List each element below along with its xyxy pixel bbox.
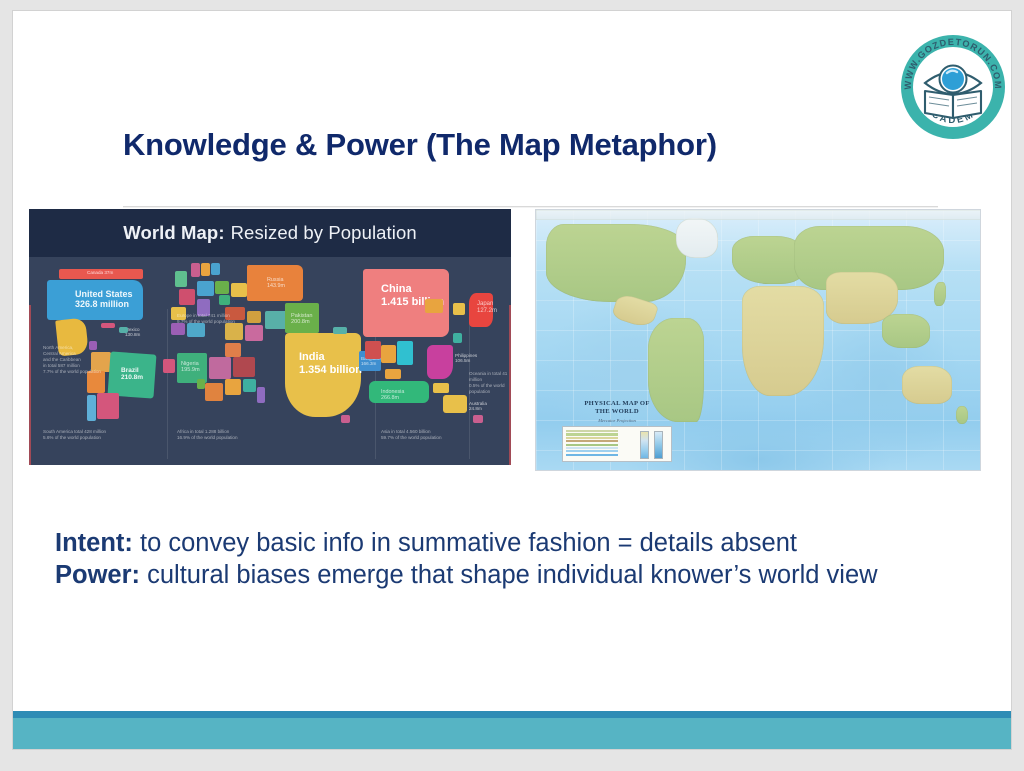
carto-country-dr-congo xyxy=(209,357,231,379)
academy-logo: WWW.GOZDETORUN.COM ACADEMY xyxy=(895,29,1011,145)
carto-note-oceania: Oceania in total 41 million 0.5% of the … xyxy=(469,371,511,395)
carto-note-europe: Europe in total 741 million 9.7% of the … xyxy=(177,313,251,325)
carto-label-australia: Australia 24.8m xyxy=(469,401,487,412)
carto-country-haiti xyxy=(119,327,128,333)
map-caption: PHYSICAL MAP OF THE WORLD Mercator Proje… xyxy=(552,400,682,424)
carto-country-new-zealand xyxy=(473,415,483,423)
carto-country-south-korea xyxy=(453,303,465,315)
body-line-power: Power: cultural biases emerge that shape… xyxy=(55,560,995,592)
carto-country-algeria xyxy=(187,323,205,337)
carto-country-malaysia xyxy=(385,369,401,379)
carto-country-mongolia xyxy=(425,299,443,313)
carto-country-papua-new-guinea xyxy=(433,383,449,393)
map-caption-line1: PHYSICAL MAP OF xyxy=(584,400,649,407)
cartogram-accent-left xyxy=(29,305,31,465)
carto-label-philippines: Philippines 106.5m xyxy=(455,353,477,364)
footer-band xyxy=(13,718,1011,749)
landmass-japan xyxy=(934,282,946,306)
carto-country-kenya xyxy=(243,379,256,392)
carto-country-sweden xyxy=(201,263,210,276)
landmass-australia xyxy=(902,366,952,404)
carto-country-finland xyxy=(211,263,220,275)
physical-world-map-image: PHYSICAL MAP OF THE WORLD Mercator Proje… xyxy=(535,209,981,471)
carto-note-asia: Asia in total 4.560 billion 59.7% of the… xyxy=(381,429,477,441)
carto-country-cuba xyxy=(101,323,115,328)
carto-country-sudan xyxy=(225,343,241,357)
carto-country-ethiopia xyxy=(233,357,255,377)
logo-icon: WWW.GOZDETORUN.COM ACADEMY xyxy=(895,29,1011,145)
map-legend-rows xyxy=(566,430,618,457)
carto-country-sri-lanka xyxy=(341,415,350,423)
carto-country-indonesia xyxy=(369,381,429,403)
title-divider xyxy=(123,206,938,208)
carto-country-ukraine xyxy=(231,283,247,297)
carto-country-ghana xyxy=(163,359,175,373)
carto-country-egypt xyxy=(225,323,243,340)
carto-country-united-kingdom xyxy=(175,271,187,287)
intent-text: to convey basic info in summative fashio… xyxy=(133,529,797,557)
cartogram-divider xyxy=(167,309,168,459)
intent-label: Intent: xyxy=(55,529,133,557)
carto-country-chile xyxy=(87,395,96,421)
carto-country-philippines xyxy=(427,345,453,379)
carto-country-argentina xyxy=(97,393,119,419)
body-line-intent: Intent: to convey basic info in summativ… xyxy=(55,528,995,560)
carto-country-norway xyxy=(191,263,200,277)
carto-country-nepal xyxy=(333,327,347,334)
carto-country-myanmar xyxy=(365,341,381,359)
map-legend-elevation-scale xyxy=(640,431,649,459)
cartogram-header: World Map:Resized by Population xyxy=(29,209,511,257)
carto-country-france xyxy=(179,289,195,305)
carto-country-saudi-arabia xyxy=(245,325,263,341)
map-caption-subtitle: Mercator Projection xyxy=(552,418,682,424)
landmass-greenland xyxy=(676,218,718,258)
map-legend xyxy=(562,426,672,462)
carto-country-pakistan xyxy=(285,303,319,333)
footer-accent-bar xyxy=(13,711,1011,718)
carto-note-africa: Africa in total 1.288 billion 16.9% of t… xyxy=(177,429,273,441)
power-label: Power: xyxy=(55,561,140,589)
map-caption-line2: THE WORLD xyxy=(595,408,639,415)
carto-country-russia xyxy=(247,265,303,301)
cartogram-title-bold: World Map: xyxy=(123,222,224,244)
power-text: cultural biases emerge that shape indivi… xyxy=(140,561,878,589)
landmass-arctic-ice xyxy=(536,210,981,220)
carto-note-south-america: South America total 428 million 5.6% of … xyxy=(43,429,139,441)
carto-country-romania xyxy=(219,295,230,305)
carto-country-germany xyxy=(197,281,214,296)
page-title: Knowledge & Power (The Map Metaphor) xyxy=(123,127,893,163)
landmass-africa xyxy=(742,286,824,396)
carto-note-north-america: North America, Central America and the C… xyxy=(43,345,117,375)
carto-country-japan xyxy=(469,293,493,327)
map-legend-depth-scale xyxy=(654,431,663,459)
landmass-southeast-asia xyxy=(882,314,930,348)
carto-country-madagascar xyxy=(257,387,265,403)
body-text: Intent: to convey basic info in summativ… xyxy=(55,528,995,591)
carto-country-poland xyxy=(215,281,229,294)
carto-country-australia xyxy=(443,395,467,413)
population-cartogram-image: World Map:Resized by Population Canada 3… xyxy=(29,209,511,465)
carto-country-united-states xyxy=(47,280,143,320)
carto-country-canada xyxy=(59,269,143,279)
carto-country-south-africa xyxy=(205,383,223,401)
cartogram-title-rest: Resized by Population xyxy=(231,222,417,244)
landmass-north-america xyxy=(546,224,686,302)
landmass-new-zealand xyxy=(956,406,968,424)
carto-country-vietnam xyxy=(397,341,413,365)
carto-country-taiwan xyxy=(453,333,462,343)
carto-country-tanzania xyxy=(225,379,241,395)
carto-country-thailand xyxy=(381,345,396,363)
cartogram-body: Canada 37m United States 326.8 million M… xyxy=(29,257,511,465)
carto-country-uganda xyxy=(197,379,205,389)
carto-country-india xyxy=(285,333,361,417)
slide: WWW.GOZDETORUN.COM ACADEMY Knowledge & P… xyxy=(12,10,1012,750)
